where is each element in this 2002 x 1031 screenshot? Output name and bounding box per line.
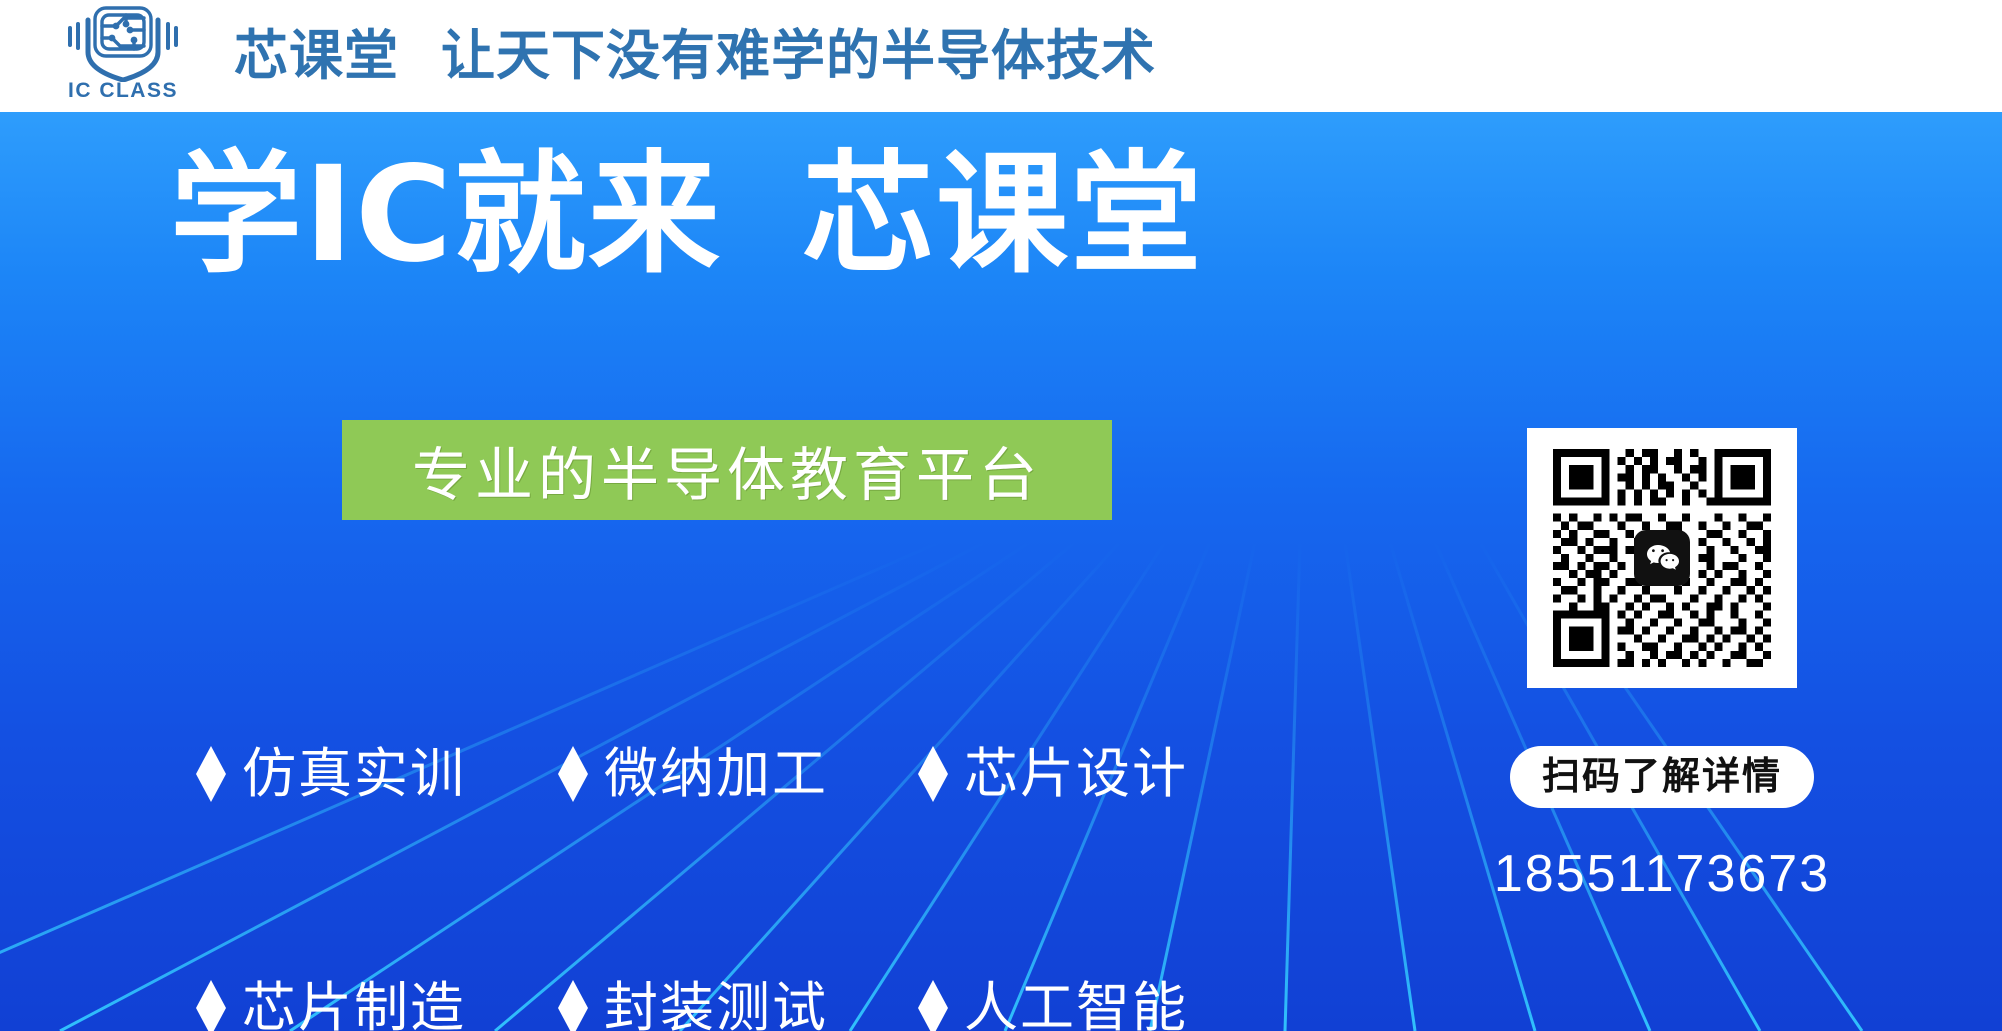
feature-label: 芯片设计 xyxy=(964,747,1188,801)
poster-canvas: IC CLASS 芯课堂让天下没有难学的半导体技术 xyxy=(0,0,2002,1031)
hero-line-b: 芯课堂 xyxy=(802,138,1204,292)
feature-label: 人工智能 xyxy=(964,981,1188,1031)
chip-book-logo-icon xyxy=(54,4,192,82)
diamond-bullet-icon xyxy=(558,746,588,802)
brand-logo[interactable]: IC CLASS xyxy=(48,4,198,108)
hero-line-a: 学IC就来 xyxy=(170,138,722,292)
feature-item-micronano[interactable]: 微纳加工 xyxy=(558,746,918,802)
diamond-bullet-icon xyxy=(918,746,948,802)
tagline-text: 专业的半导体教育平台 xyxy=(412,428,1042,512)
feature-row-2: 芯片制造 封装测试 人工智能 xyxy=(196,980,1266,1031)
contact-column: 扫码了解详情 18551173673 xyxy=(1512,428,1812,904)
scan-cta-button[interactable]: 扫码了解详情 xyxy=(1510,746,1814,808)
header-brand: 芯课堂 xyxy=(234,24,399,87)
feature-list: 仿真实训 微纳加工 芯片设计 芯片制造 封装测试 xyxy=(196,746,1266,1031)
feature-item-chip-design[interactable]: 芯片设计 xyxy=(918,746,1248,802)
header-slogan: 让天下没有难学的半导体技术 xyxy=(441,24,1156,87)
feature-item-packaging-test[interactable]: 封装测试 xyxy=(558,980,918,1031)
feature-label: 仿真实训 xyxy=(242,747,466,801)
feature-item-chip-manufacturing[interactable]: 芯片制造 xyxy=(196,980,558,1031)
feature-label: 封装测试 xyxy=(604,981,828,1031)
hero-heading: 学IC就来芯课堂 xyxy=(170,147,1204,284)
logo-wordmark: IC CLASS xyxy=(68,79,178,103)
feature-label: 芯片制造 xyxy=(242,981,466,1031)
feature-label: 微纳加工 xyxy=(604,747,828,801)
feature-row-1: 仿真实训 微纳加工 芯片设计 xyxy=(196,746,1266,802)
diamond-bullet-icon xyxy=(918,980,948,1031)
phone-number[interactable]: 18551173673 xyxy=(1494,844,1830,904)
diamond-bullet-icon xyxy=(196,746,226,802)
diamond-bullet-icon xyxy=(196,980,226,1031)
hero-stage: 学IC就来芯课堂 专业的半导体教育平台 仿真实训 微纳加工 芯片设计 xyxy=(0,112,2002,1031)
header-title: 芯课堂让天下没有难学的半导体技术 xyxy=(234,29,1156,83)
qr-code-card[interactable] xyxy=(1527,428,1797,688)
feature-item-ai[interactable]: 人工智能 xyxy=(918,980,1248,1031)
diamond-bullet-icon xyxy=(558,980,588,1031)
feature-item-simulation[interactable]: 仿真实训 xyxy=(196,746,558,802)
tagline-banner: 专业的半导体教育平台 xyxy=(342,420,1112,520)
scan-cta-label: 扫码了解详情 xyxy=(1542,756,1782,798)
wechat-icon xyxy=(1634,530,1690,586)
site-header: IC CLASS 芯课堂让天下没有难学的半导体技术 xyxy=(0,0,2002,112)
